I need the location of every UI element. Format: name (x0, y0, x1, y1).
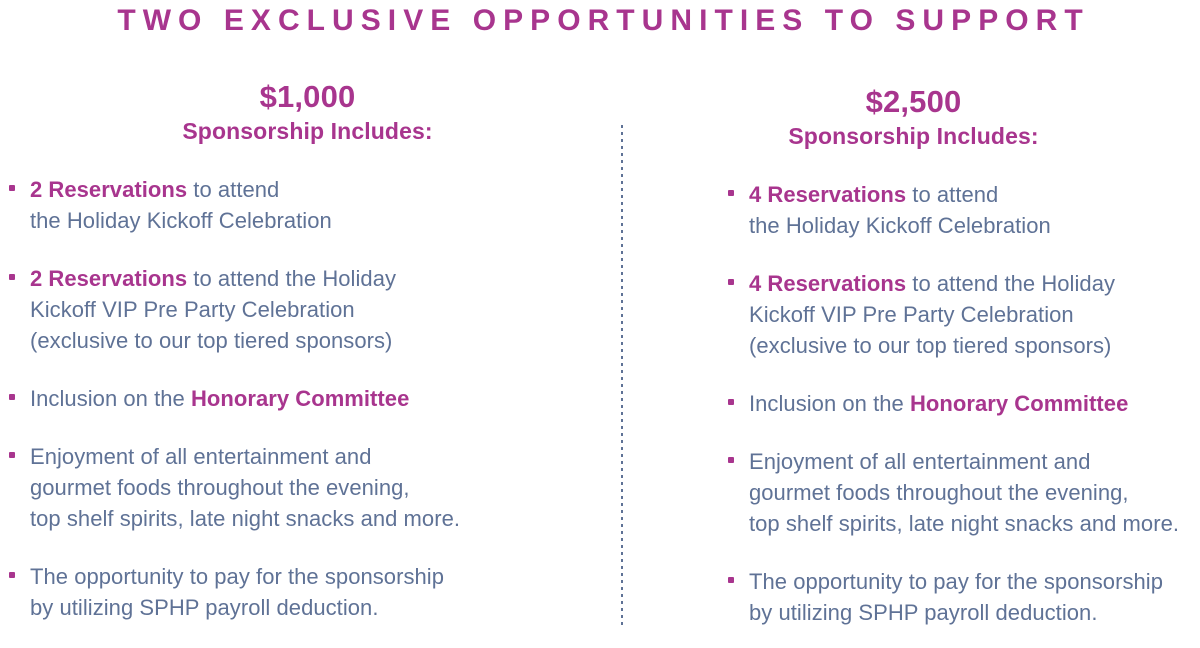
benefit-text: Inclusion on the (749, 391, 910, 416)
tier-price: $1,000 (0, 78, 615, 116)
benefit-text: Inclusion on the (30, 386, 191, 411)
bullet-icon (728, 457, 734, 463)
benefit-highlight: 4 Reservations (749, 271, 906, 296)
sponsorship-tiers: $1,000 Sponsorship Includes: 2 Reservati… (0, 0, 1200, 648)
bullet-icon (9, 274, 15, 280)
tier-header: $1,000 Sponsorship Includes: (0, 0, 615, 146)
benefit-highlight: 4 Reservations (749, 182, 906, 207)
benefit-highlight: 2 Reservations (30, 177, 187, 202)
bullet-icon (728, 577, 734, 583)
benefit-item: Enjoyment of all entertainment and gourm… (8, 441, 615, 534)
tier-includes-label: Sponsorship Includes: (0, 116, 615, 146)
benefit-text: Enjoyment of all entertainment and gourm… (30, 444, 460, 531)
benefit-highlight: Honorary Committee (910, 391, 1128, 416)
sponsorship-tier-2500: $2,500 Sponsorship Includes: 4 Reservati… (627, 0, 1200, 648)
benefit-item: 4 Reservations to attend the Holiday Kic… (727, 268, 1200, 361)
bullet-icon (9, 572, 15, 578)
tier-includes-label: Sponsorship Includes: (627, 121, 1200, 151)
benefit-item: 2 Reservations to attend the Holiday Kic… (8, 174, 615, 236)
benefit-item: 4 Reservations to attend the Holiday Kic… (727, 179, 1200, 241)
bullet-icon (728, 190, 734, 196)
benefits-list: 2 Reservations to attend the Holiday Kic… (0, 174, 615, 623)
benefits-list: 4 Reservations to attend the Holiday Kic… (627, 179, 1200, 628)
benefit-item: Enjoyment of all entertainment and gourm… (727, 446, 1200, 539)
benefit-item: The opportunity to pay for the sponsorsh… (8, 561, 615, 623)
benefit-text: The opportunity to pay for the sponsorsh… (30, 564, 444, 620)
bullet-icon (9, 452, 15, 458)
benefit-item: Inclusion on the Honorary Committee (727, 388, 1200, 419)
benefit-text: Enjoyment of all entertainment and gourm… (749, 449, 1179, 536)
sponsorship-tier-1000: $1,000 Sponsorship Includes: 2 Reservati… (0, 0, 615, 648)
benefit-text: The opportunity to pay for the sponsorsh… (749, 569, 1163, 625)
tier-price: $2,500 (627, 83, 1200, 121)
benefit-item: 2 Reservations to attend the Holiday Kic… (8, 263, 615, 356)
bullet-icon (9, 185, 15, 191)
benefit-highlight: 2 Reservations (30, 266, 187, 291)
tier-header: $2,500 Sponsorship Includes: (627, 0, 1200, 151)
bullet-icon (728, 399, 734, 405)
benefit-highlight: Honorary Committee (191, 386, 409, 411)
bullet-icon (728, 279, 734, 285)
benefit-item: The opportunity to pay for the sponsorsh… (727, 566, 1200, 628)
benefit-item: Inclusion on the Honorary Committee (8, 383, 615, 414)
bullet-icon (9, 394, 15, 400)
